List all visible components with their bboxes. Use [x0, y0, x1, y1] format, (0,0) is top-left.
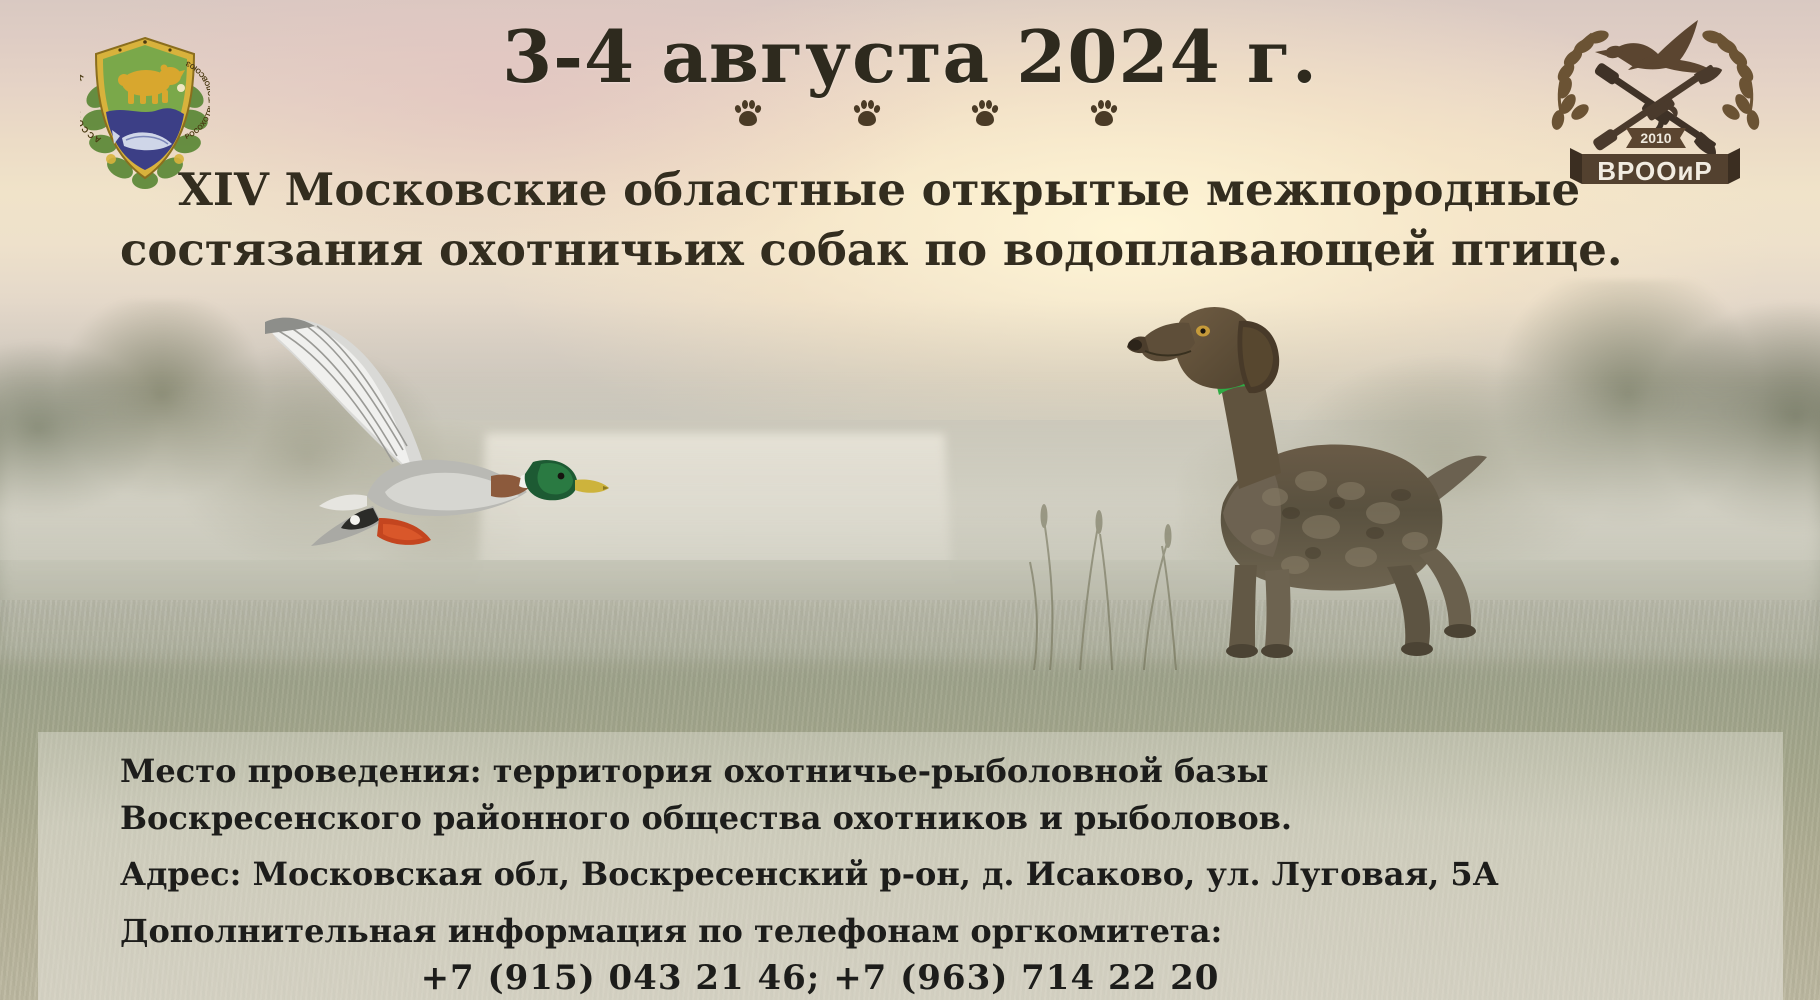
event-title: XIV Московские областные открытые межпор… [120, 160, 1680, 280]
phone-numbers: +7 (915) 043 21 46; +7 (963) 714 22 20 [120, 958, 1520, 998]
pointer-dog-photo [1115, 265, 1505, 665]
flying-mallard-photo [255, 300, 615, 610]
paw-print-icon [972, 99, 998, 129]
event-date: 3-4 августа 2024 г. [0, 14, 1820, 99]
paw-print-icon [735, 99, 761, 129]
address-line: Адрес: Московская обл, Воскресенский р-о… [120, 855, 1760, 893]
paw-print-icon [854, 99, 880, 129]
venue-line-2: Воскресенского районного общества охотни… [120, 795, 1720, 842]
paw-print-divider [0, 95, 1820, 129]
event-title-line-2: состязания охотничьих собак по водоплава… [120, 220, 1680, 280]
event-title-line-1: XIV Московские областные открытые межпор… [120, 160, 1680, 220]
venue-block: Место проведения: территория охотничье-р… [120, 748, 1720, 842]
venue-line-1: Место проведения: территория охотничье-р… [120, 748, 1720, 795]
extra-info-line: Дополнительная информация по телефонам о… [120, 912, 1760, 950]
poster: АССОЦИАЦИЯ РОСОХОТРЫБОЛОВСОЮЗ [0, 0, 1820, 1000]
paw-print-icon [1091, 99, 1117, 129]
logo-right-year: 2010 [1640, 130, 1671, 146]
